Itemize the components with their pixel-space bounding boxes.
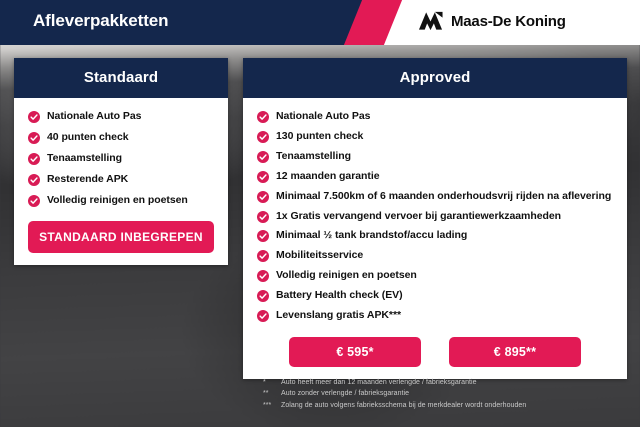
check-circle-icon xyxy=(257,211,269,223)
feature-label: Volledig reinigen en poetsen xyxy=(276,268,417,283)
card-body-standaard: Nationale Auto Pas 40 punten check Tenaa… xyxy=(14,98,228,265)
list-item: Tenaamstelling xyxy=(257,149,613,164)
footnote-marker: ** xyxy=(263,388,281,399)
standaard-inbegrepen-button[interactable]: STANDAARD INBEGREPEN xyxy=(28,221,214,253)
feature-list-standaard: Nationale Auto Pas 40 punten check Tenaa… xyxy=(28,109,214,208)
check-circle-icon xyxy=(28,111,40,123)
check-circle-icon xyxy=(257,191,269,203)
footnote-text: Auto heeft meer dan 12 maanden verlengde… xyxy=(281,377,633,388)
feature-list-approved: Nationale Auto Pas 130 punten check Tena… xyxy=(257,109,613,323)
footnote-item: *** Zolang de auto volgens fabrieksschem… xyxy=(263,400,633,411)
feature-label: 130 punten check xyxy=(276,129,363,144)
price-button-row: € 595* € 895** xyxy=(257,337,613,367)
check-circle-icon xyxy=(257,230,269,242)
list-item: Nationale Auto Pas xyxy=(257,109,613,124)
feature-label: Minimaal 7.500km of 6 maanden onderhouds… xyxy=(276,189,611,204)
list-item: 12 maanden garantie xyxy=(257,169,613,184)
feature-label: Tenaamstelling xyxy=(47,151,122,166)
brand-name: Maas-De Koning xyxy=(451,13,566,30)
footnote-marker: * xyxy=(263,377,281,388)
check-circle-icon xyxy=(257,111,269,123)
feature-label: Mobiliteitsservice xyxy=(276,248,363,263)
list-item: Resterende APK xyxy=(28,172,214,187)
maas-de-koning-m-mark-icon xyxy=(418,10,443,32)
list-item: 1x Gratis vervangend vervoer bij garanti… xyxy=(257,209,613,224)
list-item: Battery Health check (EV) xyxy=(257,288,613,303)
check-circle-icon xyxy=(28,195,40,207)
footnote-marker: *** xyxy=(263,400,281,411)
price-button-895[interactable]: € 895** xyxy=(449,337,581,367)
footnote-text: Zolang de auto volgens fabrieksschema bi… xyxy=(281,400,633,411)
feature-label: Minimaal ½ tank brandstof/accu lading xyxy=(276,228,467,243)
feature-label: 12 maanden garantie xyxy=(276,169,380,184)
check-circle-icon xyxy=(28,132,40,144)
check-circle-icon xyxy=(257,290,269,302)
package-card-approved: Approved Nationale Auto Pas 130 punten c… xyxy=(243,58,627,379)
check-circle-icon xyxy=(257,171,269,183)
feature-label: Resterende APK xyxy=(47,172,128,187)
price-button-595[interactable]: € 595* xyxy=(289,337,421,367)
card-body-approved: Nationale Auto Pas 130 punten check Tena… xyxy=(243,98,627,379)
list-item: 130 punten check xyxy=(257,129,613,144)
list-item: Tenaamstelling xyxy=(28,151,214,166)
feature-label: Nationale Auto Pas xyxy=(47,109,141,124)
list-item: Volledig reinigen en poetsen xyxy=(28,193,214,208)
check-circle-icon xyxy=(257,310,269,322)
feature-label: Battery Health check (EV) xyxy=(276,288,403,303)
list-item: 40 punten check xyxy=(28,130,214,145)
check-circle-icon xyxy=(257,270,269,282)
footnote-list: * Auto heeft meer dan 12 maanden verleng… xyxy=(263,377,633,411)
brand-logo: Maas-De Koning xyxy=(418,10,566,32)
list-item: Mobiliteitsservice xyxy=(257,248,613,263)
list-item: Minimaal 7.500km of 6 maanden onderhouds… xyxy=(257,189,613,204)
feature-label: Volledig reinigen en poetsen xyxy=(47,193,188,208)
card-heading-standaard: Standaard xyxy=(14,58,228,98)
list-item: Levenslang gratis APK*** xyxy=(257,308,613,323)
check-circle-icon xyxy=(28,174,40,186)
feature-label: 1x Gratis vervangend vervoer bij garanti… xyxy=(276,209,561,224)
list-item: Minimaal ½ tank brandstof/accu lading xyxy=(257,228,613,243)
check-circle-icon xyxy=(28,153,40,165)
check-circle-icon xyxy=(257,250,269,262)
feature-label: 40 punten check xyxy=(47,130,129,145)
page-header: Afleverpakketten Maas-De Koning xyxy=(0,0,640,45)
footnote-text: Auto zonder verlengde / fabrieksgarantie xyxy=(281,388,633,399)
feature-label: Levenslang gratis APK*** xyxy=(276,308,401,323)
package-card-standaard: Standaard Nationale Auto Pas 40 punten c… xyxy=(14,58,228,265)
footnote-item: * Auto heeft meer dan 12 maanden verleng… xyxy=(263,377,633,388)
check-circle-icon xyxy=(257,131,269,143)
card-heading-approved: Approved xyxy=(243,58,627,98)
feature-label: Tenaamstelling xyxy=(276,149,351,164)
feature-label: Nationale Auto Pas xyxy=(276,109,370,124)
page-title: Afleverpakketten xyxy=(33,11,168,31)
list-item: Volledig reinigen en poetsen xyxy=(257,268,613,283)
footnote-item: ** Auto zonder verlengde / fabrieksgaran… xyxy=(263,388,633,399)
check-circle-icon xyxy=(257,151,269,163)
list-item: Nationale Auto Pas xyxy=(28,109,214,124)
